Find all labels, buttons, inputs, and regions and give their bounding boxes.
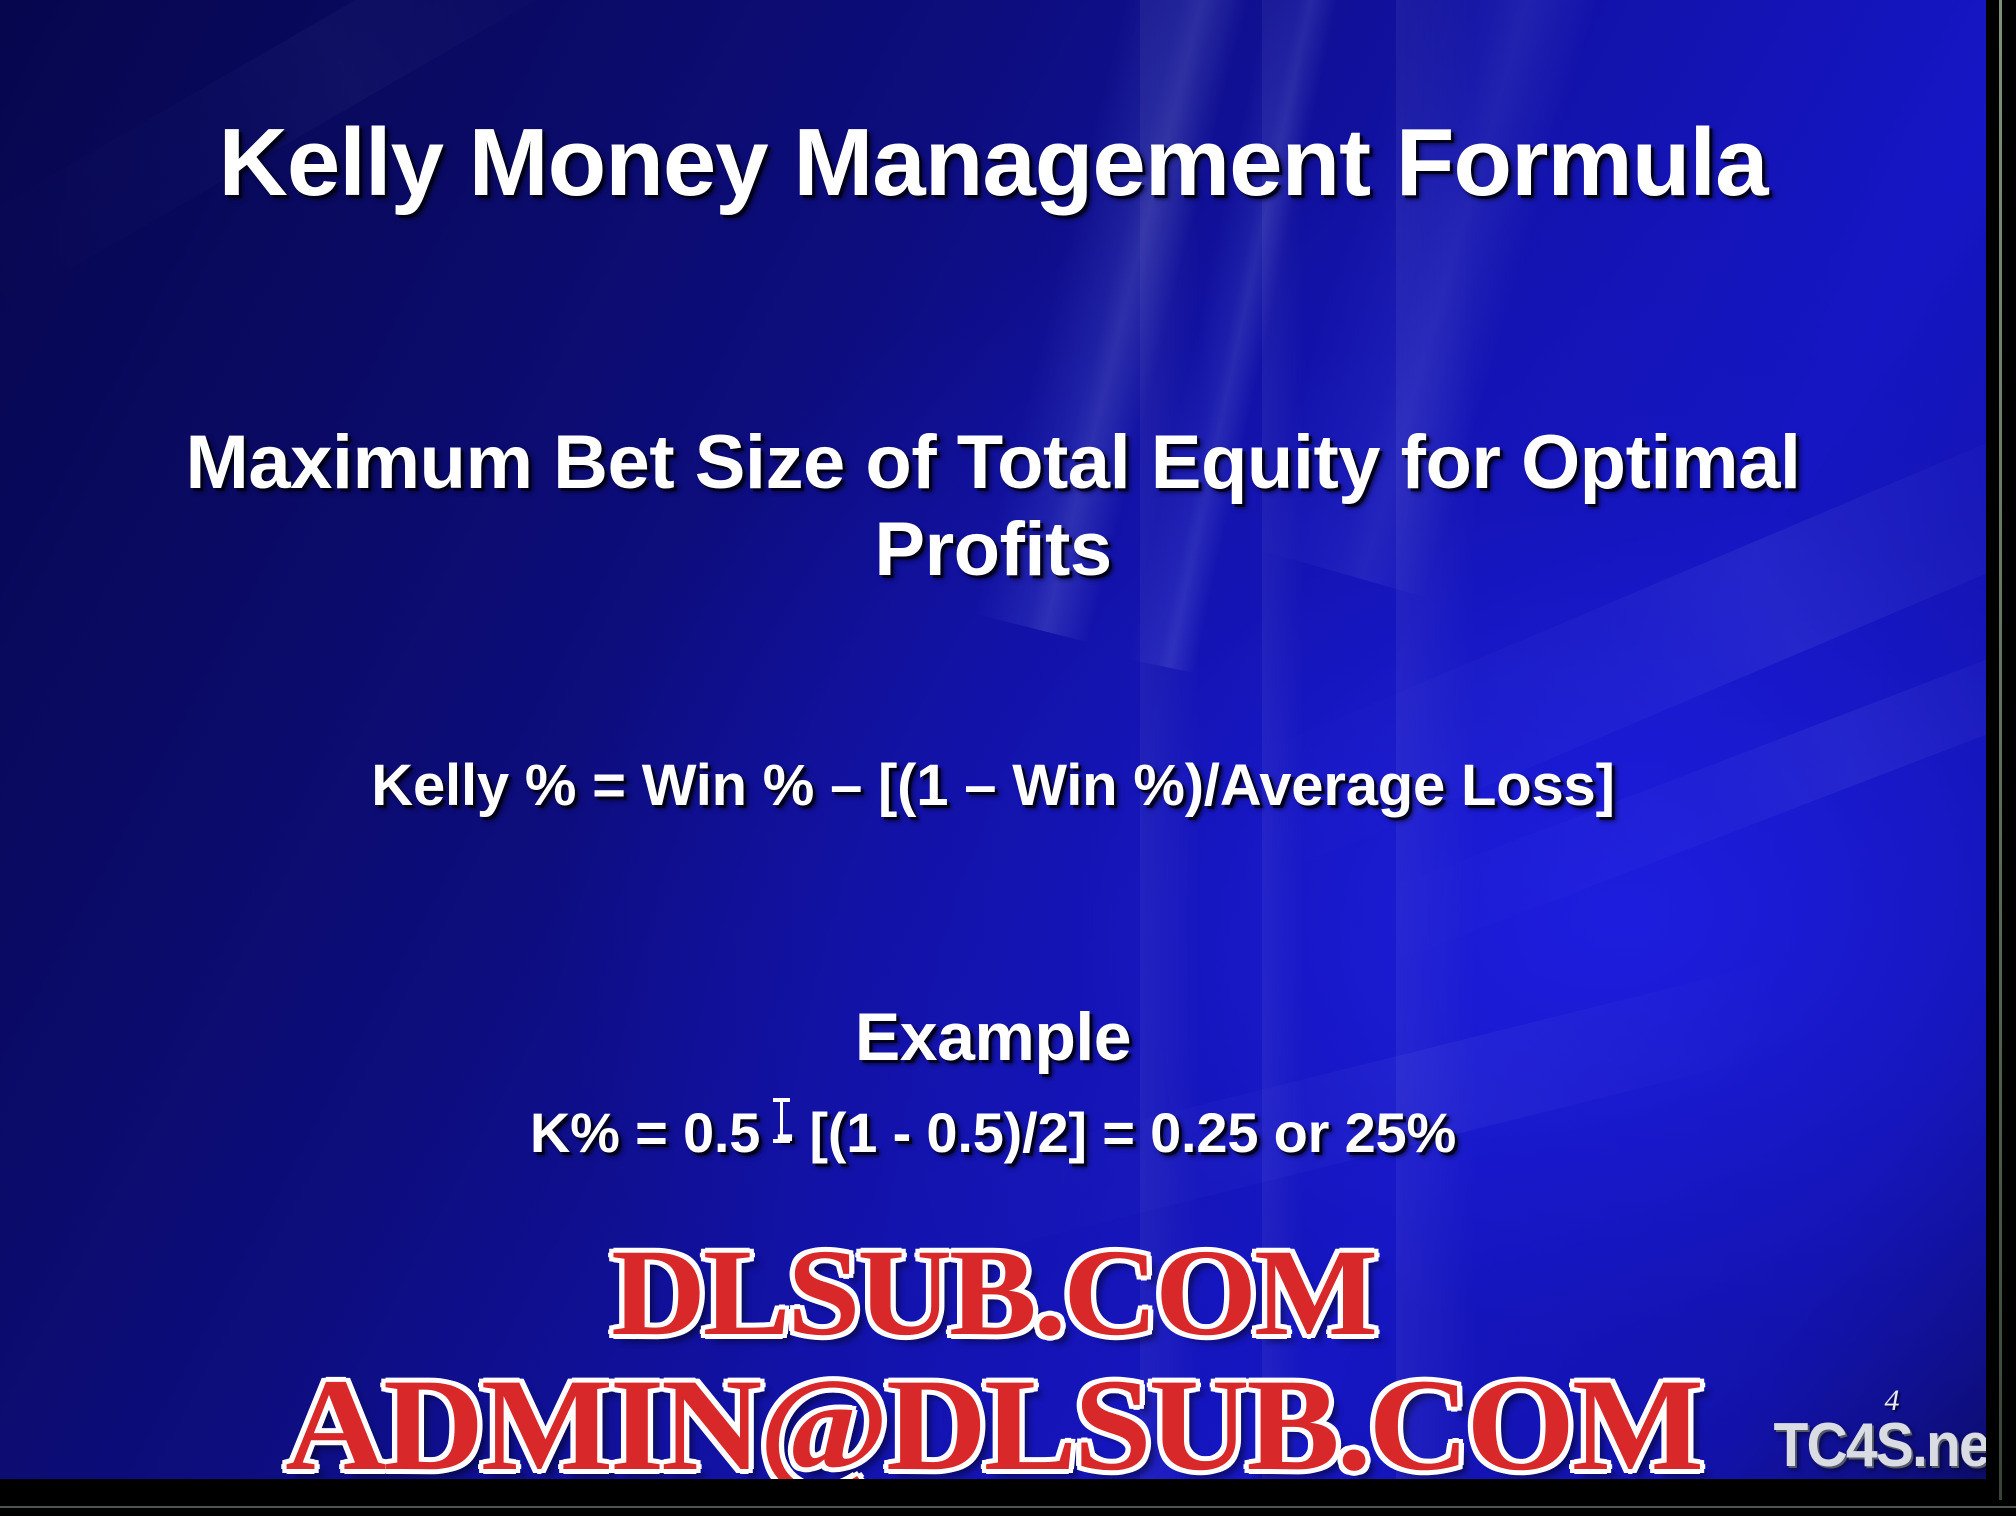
kelly-formula-line: Kelly % = Win % – [(1 – Win %)/Average L… xyxy=(0,752,1986,819)
watermark-email: ADMIN@DLSUB.COM xyxy=(0,1348,1986,1479)
brand-logo: TC4S.net xyxy=(1767,1410,1986,1479)
slide-subtitle: Maximum Bet Size of Total Equity for Opt… xyxy=(90,420,1896,593)
slide-canvas: Kelly Money Management Formula Maximum B… xyxy=(0,0,1986,1479)
example-heading: Example xyxy=(0,998,1986,1076)
presentation-slide: Kelly Money Management Formula Maximum B… xyxy=(0,0,2016,1516)
frame-rule-right xyxy=(1999,0,2002,1500)
frame-rule-bottom xyxy=(0,1506,2016,1508)
watermark-site: DLSUB.COM xyxy=(0,1222,1986,1364)
example-formula-line: K% = 0.5 - [(1 - 0.5)/2] = 0.25 or 25% xyxy=(0,1100,1986,1165)
slide-title: Kelly Money Management Formula xyxy=(0,112,1986,214)
